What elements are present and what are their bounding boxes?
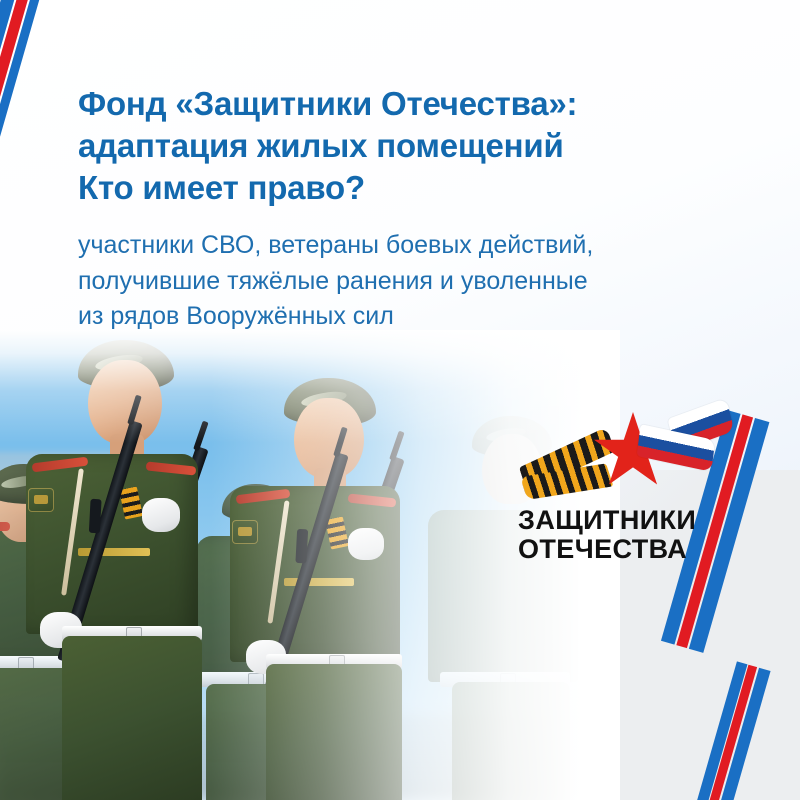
poster-canvas: Фонд «Защитники Отечества»: адаптация жи… xyxy=(0,0,800,800)
russian-tricolor-ribbon-icon xyxy=(644,410,732,478)
headline-line-3: Кто имеет право? xyxy=(78,167,718,209)
page-subtitle: участники СВО, ветераны боевых действий,… xyxy=(78,228,728,335)
logo-text-line-2: ОТЕЧЕСТВА xyxy=(518,535,728,564)
headline-line-2: адаптация жилых помещений xyxy=(78,125,718,167)
logo-emblem xyxy=(518,408,728,506)
headline-line-1: Фонд «Защитники Отечества»: xyxy=(78,83,718,125)
logo-text-line-1: ЗАЩИТНИКИ xyxy=(518,506,728,535)
subhead-line-1: участники СВО, ветераны боевых действий, xyxy=(78,228,728,264)
logo-wordmark: ЗАЩИТНИКИ ОТЕЧЕСТВА xyxy=(518,506,728,563)
zashchitniki-otechestva-logo: ЗАЩИТНИКИ ОТЕЧЕСТВА xyxy=(518,408,728,573)
subhead-line-2: получившие тяжёлые ранения и уволенные xyxy=(78,264,728,300)
subhead-line-3: из рядов Вооружённых сил xyxy=(78,299,728,335)
page-title: Фонд «Защитники Отечества»: адаптация жи… xyxy=(78,83,718,209)
